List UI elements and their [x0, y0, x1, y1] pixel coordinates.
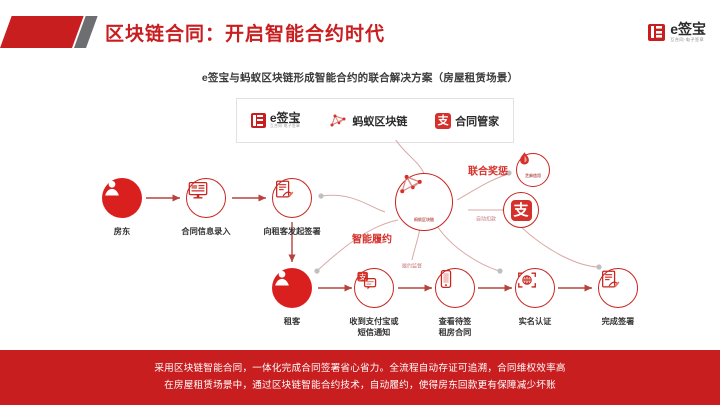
node-label-finish: 完成签署 [602, 316, 635, 327]
document-sign-icon [273, 179, 295, 201]
node-contract-entry[interactable] [186, 178, 226, 218]
node-notify[interactable]: 支 [354, 268, 394, 308]
minitag-auto-deduct: 自动扣款 [475, 216, 497, 223]
svg-text:支: 支 [359, 272, 367, 282]
phone-icon [436, 269, 456, 289]
partner-sublabel: 互合同·电子签章 [270, 125, 301, 129]
esign-logo-icon [648, 24, 665, 41]
person-icon [102, 178, 122, 198]
node-view-contract[interactable] [435, 268, 475, 308]
node-alipay[interactable]: 支 [503, 192, 539, 228]
banner-line-2: 在房屋租赁场景中，通过区块链智能合约技术，自动履约，使得房东回款更有保障减少坏账 [164, 380, 556, 392]
alipay-icon: 支 [435, 113, 451, 129]
node-label-tenant: 租客 [284, 316, 300, 327]
node-inner-label-sesame: 芝麻信用 [525, 173, 541, 179]
alipay-message-icon: 支 [355, 269, 378, 292]
node-sesame-credit[interactable]: 芝麻信用 [516, 153, 550, 187]
diagram-subtitle: e签宝与蚂蚁区块链形成智能合约的联合解决方案（房屋租赁场景） [0, 70, 720, 85]
partner-esign-text: e签宝 互合同·电子签章 [270, 112, 301, 129]
partner-label: 合同管家 [455, 113, 499, 129]
brand-text: e签宝 互合同·电子签章 [670, 22, 706, 42]
partner-esign: e签宝 互合同·电子签章 [251, 112, 301, 129]
node-ant-chain[interactable]: 蚂蚁区块链 [395, 173, 453, 231]
tag-smart-perform: 智能履约 [352, 231, 392, 246]
bottom-banner: 采用区块链智能合同，一体化完成合同签署省心省力。全流程自动存证可追溯，合同维权效… [0, 350, 720, 405]
brand-name: e签宝 [670, 22, 706, 36]
document-signed-icon [599, 269, 621, 291]
face-scan-icon [516, 269, 538, 291]
partner-label: 蚂蚁区块链 [352, 113, 407, 129]
node-label-landlord: 房东 [114, 226, 130, 237]
partner-ant-blockchain: 蚂蚁区块链 [328, 111, 407, 131]
slide-root: 区块链合同：开启智能合约时代 e签宝 互合同·电子签章 e签宝与蚂蚁区块链形成智… [0, 0, 720, 405]
page-title: 区块链合同：开启智能合约时代 [105, 19, 385, 46]
node-label-view-contract: 查看待签租房合同 [420, 316, 490, 338]
minitag-perform-monitor: 履约监督 [401, 263, 423, 270]
monitor-icon [187, 179, 209, 201]
flow-diagram: 房东 合同信息录入 向租客发起签署 [0, 140, 720, 345]
node-label-notify: 收到支付宝或短信通知 [339, 316, 409, 338]
esign-logo-icon [251, 113, 266, 128]
alipay-icon: 支 [511, 200, 532, 221]
header-red-accent [0, 16, 84, 48]
node-tenant[interactable] [272, 268, 312, 308]
node-landlord[interactable] [102, 178, 142, 218]
ant-blockchain-icon [328, 111, 348, 131]
node-label-contract-entry: 合同信息录入 [181, 226, 230, 237]
node-label-initiate-sign: 向租客发起签署 [263, 226, 320, 237]
partner-label: e签宝 [270, 112, 301, 124]
node-label-realname: 实名认证 [519, 316, 552, 327]
slide-header: 区块链合同：开启智能合约时代 e签宝 互合同·电子签章 [0, 0, 720, 58]
node-finish[interactable] [598, 268, 638, 308]
partner-bar: e签宝 互合同·电子签章 蚂蚁区块链 支 合同管家 [236, 98, 514, 143]
partner-contract-butler: 支 合同管家 [435, 113, 499, 129]
node-realname[interactable] [515, 268, 555, 308]
blockchain-node-icon [396, 170, 426, 200]
node-initiate-sign[interactable] [272, 178, 312, 218]
banner-line-1: 采用区块链智能合同，一体化完成合同签署省心省力。全流程自动存证可追溯，合同维权效… [154, 363, 565, 375]
tag-joint-reward: 联合奖惩 [468, 163, 508, 178]
sesame-credit-icon [517, 151, 532, 166]
node-inner-label-ant-chain: 蚂蚁区块链 [414, 217, 434, 223]
person-icon [272, 268, 292, 288]
brand-subtext: 互合同·电子签章 [670, 38, 706, 42]
brand-logo: e签宝 互合同·电子签章 [648, 22, 706, 42]
